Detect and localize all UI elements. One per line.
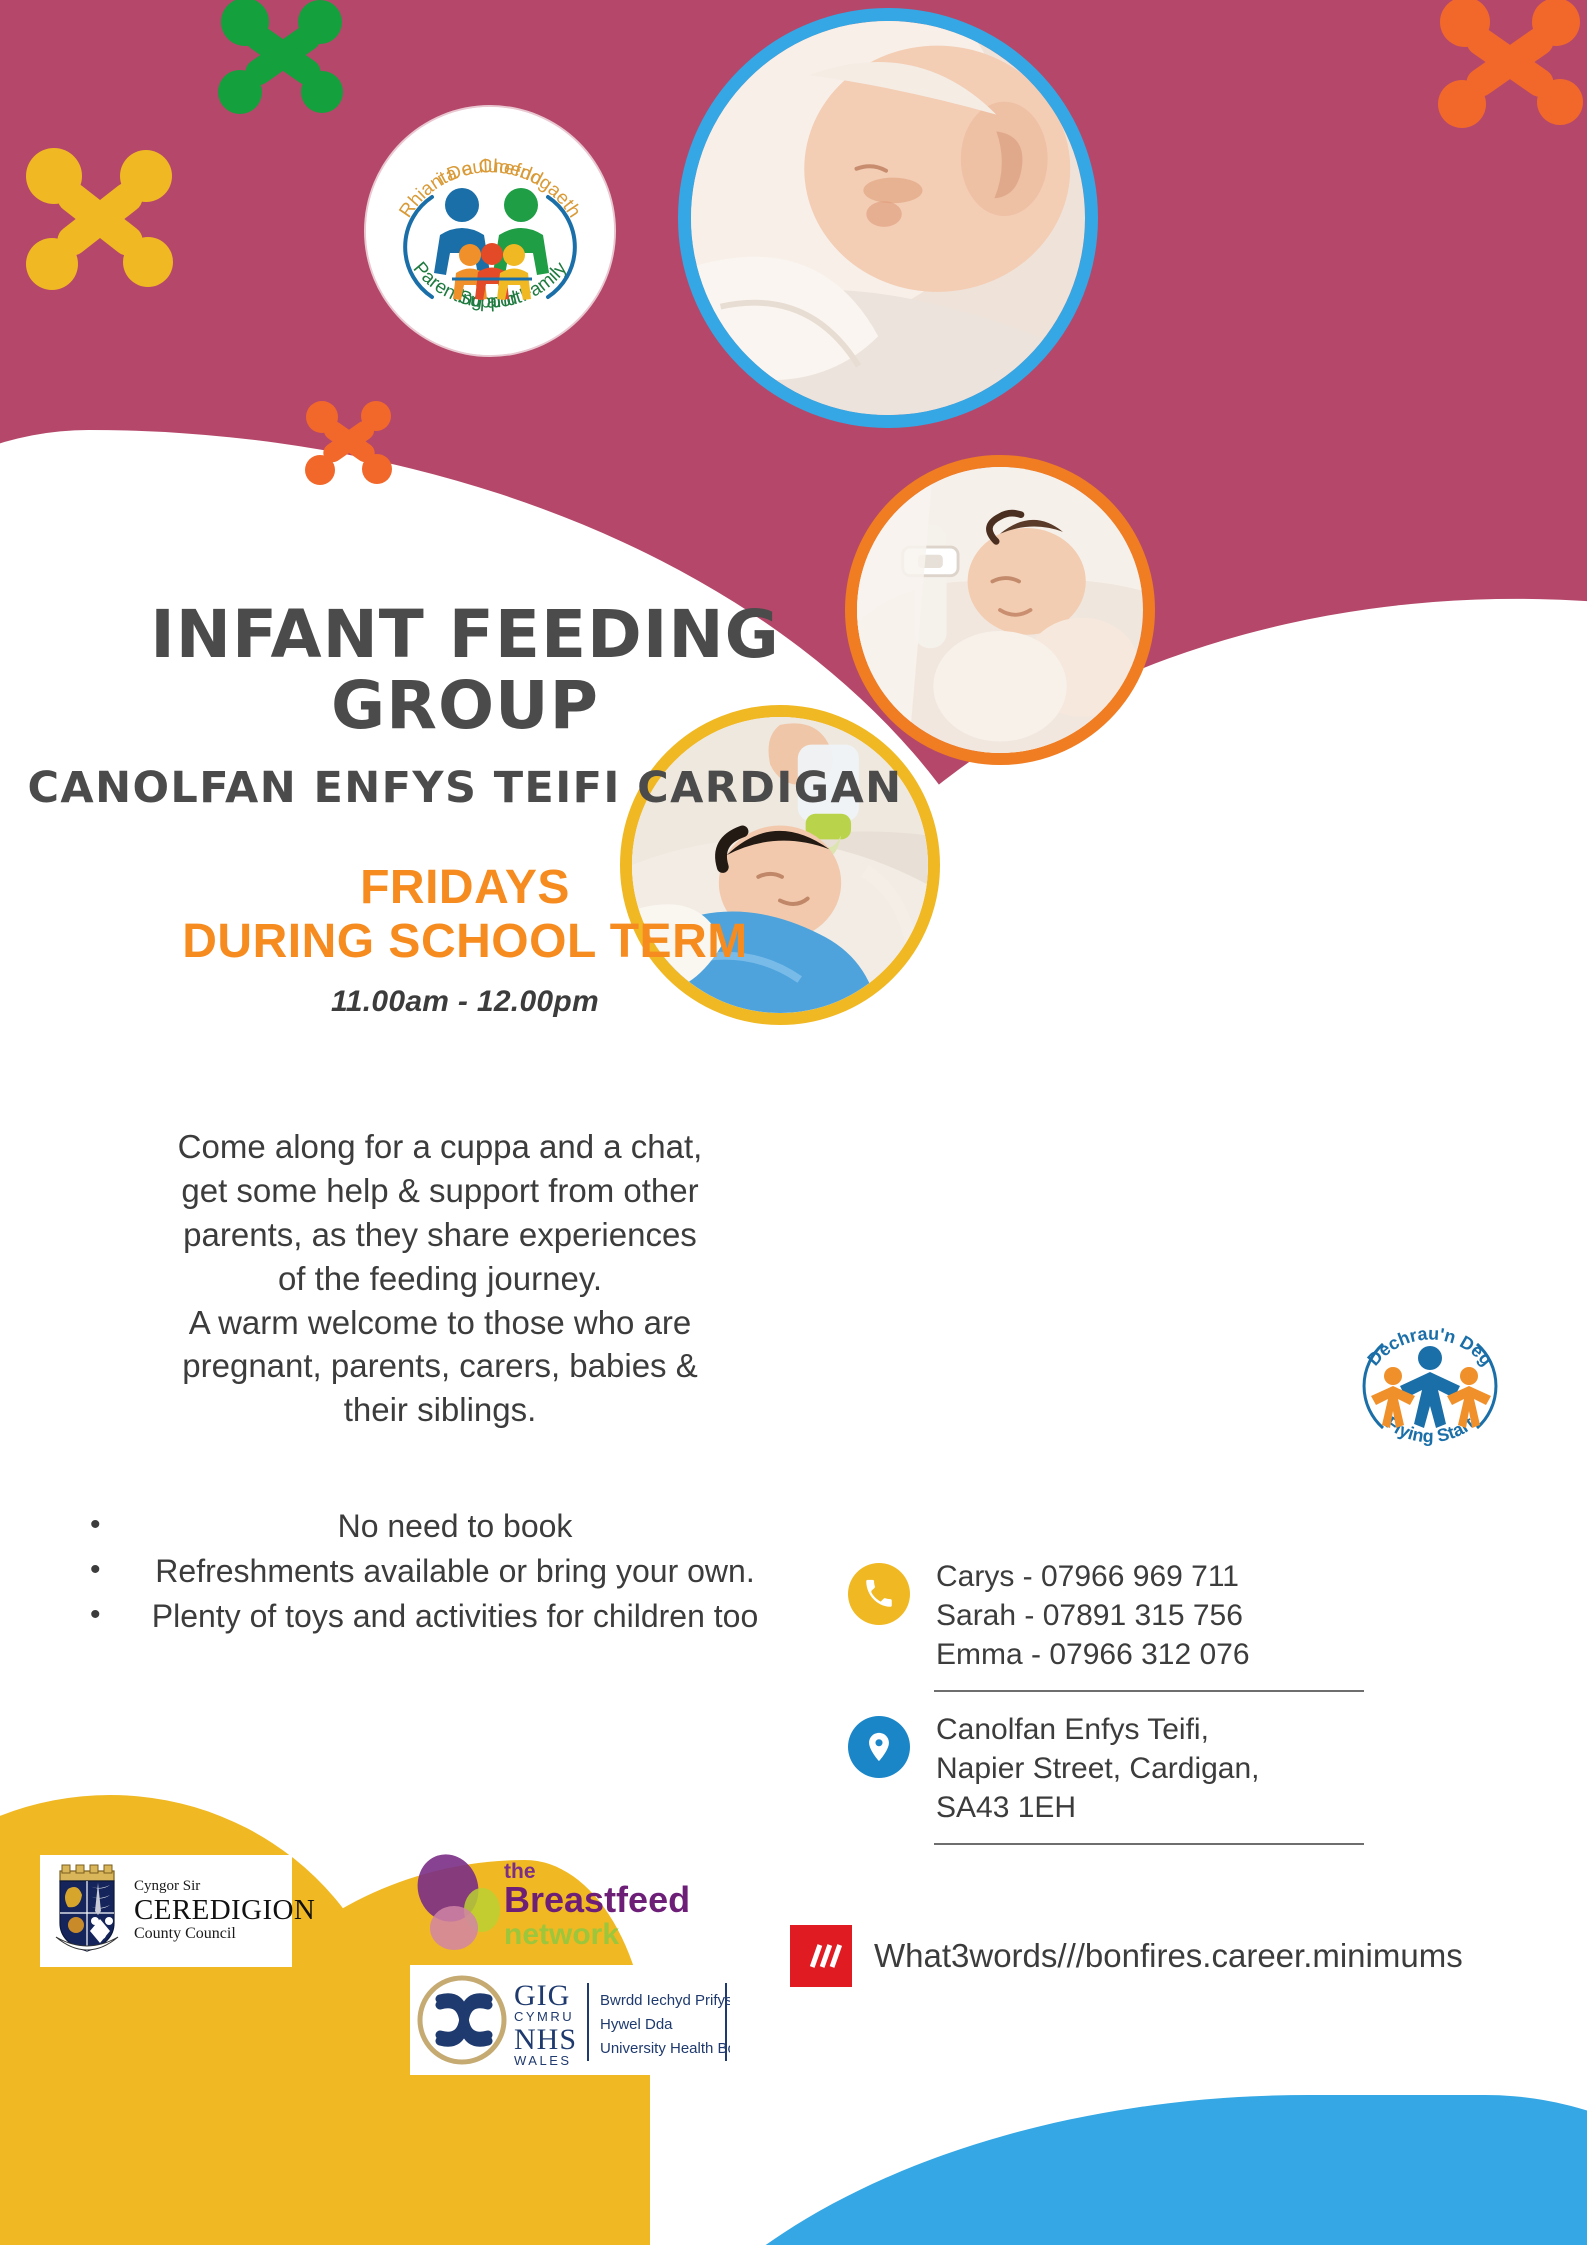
photo-1-artwork — [691, 21, 1085, 415]
description-line: Come along for a cuppa and a chat, — [60, 1125, 820, 1169]
svg-text:WALES: WALES — [514, 2053, 572, 2068]
list-item: Plenty of toys and activities for childr… — [70, 1595, 830, 1638]
phone-icon — [848, 1563, 910, 1625]
address-contact-row: Canolfan Enfys Teifi, Napier Street, Car… — [848, 1708, 1548, 1827]
green-jack-shape — [210, 0, 350, 120]
page-title: INFANT FEEDING GROUP — [0, 600, 930, 741]
list-item: No need to book — [70, 1505, 830, 1548]
address-line: Canolfan Enfys Teifi, — [936, 1710, 1260, 1749]
schedule-line-1: FRIDAYS — [0, 861, 930, 915]
description-line: get some help & support from other — [60, 1169, 820, 1213]
ceredigion-crest-icon — [50, 1863, 124, 1959]
schedule-line-2: DURING SCHOOL TERM — [0, 915, 930, 969]
ceredigion-line-3: County Council — [134, 1926, 315, 1943]
what3words-row: What3words///bonfires.career.minimums — [790, 1925, 1463, 1987]
ceredigion-line-1: Cyngor Sir — [134, 1879, 315, 1895]
nhs-board-line-3: University Health Board — [600, 2040, 730, 2057]
flying-start-logo: Dechrau'n Deg Flying Start — [1345, 1300, 1515, 1470]
breastfeeding-network-logo-artwork: the Breastfeeding network — [400, 1848, 690, 1956]
ceredigion-logo-text: Cyngor Sir CEREDIGION County Council — [134, 1879, 315, 1943]
address-line: SA43 1EH — [936, 1788, 1260, 1827]
nhs-board-line-1: Bwrdd Iechyd Prifysgol — [600, 1992, 730, 2009]
venue-subtitle: CANOLFAN ENFYS TEIFI CARDIGAN — [0, 763, 930, 813]
bfn-line-3: network — [504, 1918, 619, 1951]
nhs-logo-artwork: GIG CYMRU NHS WALES Bwrdd Iechyd Prifysg… — [410, 1965, 730, 2075]
bfn-line-2: Breastfeeding — [504, 1879, 690, 1920]
info-bullet-list: No need to book Refreshments available o… — [70, 1505, 830, 1640]
nhs-board-line-2: Hywel Dda — [600, 2016, 673, 2033]
ceredigion-line-2: CEREDIGION — [134, 1895, 315, 1926]
title-line-1: INFANT FEEDING — [0, 600, 930, 671]
headline-block: INFANT FEEDING GROUP CANOLFAN ENFYS TEIF… — [0, 600, 930, 1019]
contact-divider-bottom — [934, 1843, 1364, 1845]
orange-jack-shape-top-right — [1420, 0, 1587, 130]
description-text: Come along for a cuppa and a chat, get s… — [60, 1125, 820, 1432]
nhs-wales-hywel-dda-logo: GIG CYMRU NHS WALES Bwrdd Iechyd Prifysg… — [410, 1965, 730, 2075]
description-line: parents, as they share experiences — [60, 1213, 820, 1257]
what3words-slashes-icon — [790, 1925, 852, 1987]
title-line-2: GROUP — [0, 671, 930, 742]
phone-line: Sarah - 07891 315 756 — [936, 1596, 1250, 1635]
svg-text:NHS: NHS — [514, 2023, 577, 2056]
phone-numbers: Carys - 07966 969 711 Sarah - 07891 315 … — [936, 1555, 1250, 1674]
yellow-jack-shape-left — [20, 140, 180, 300]
ceredigion-county-council-logo: Cyngor Sir CEREDIGION County Council — [40, 1855, 292, 1967]
flying-start-logo-artwork: Dechrau'n Deg Flying Start — [1345, 1300, 1515, 1470]
svg-text:GIG: GIG — [514, 1979, 570, 2012]
contact-divider-top — [934, 1690, 1364, 1692]
description-line: A warm welcome to those who are — [60, 1301, 820, 1345]
contact-block: Carys - 07966 969 711 Sarah - 07891 315 … — [848, 1555, 1548, 1861]
photo-breastfeeding-newborn — [678, 8, 1098, 428]
list-item: Refreshments available or bring your own… — [70, 1550, 830, 1593]
parenting-and-family-support-logo: Rhianta a Chefnogaeth i Deuluoedd Parent… — [366, 107, 614, 355]
phone-contact-row: Carys - 07966 969 711 Sarah - 07891 315 … — [848, 1555, 1548, 1674]
session-time: 11.00am - 12.00pm — [0, 985, 930, 1019]
description-line: pregnant, parents, carers, babies & — [60, 1344, 820, 1388]
phone-line: Emma - 07966 312 076 — [936, 1635, 1250, 1674]
phone-line: Carys - 07966 969 711 — [936, 1557, 1250, 1596]
pfs-logo-artwork: Rhianta a Chefnogaeth i Deuluoedd Parent… — [366, 107, 614, 355]
address-text: Canolfan Enfys Teifi, Napier Street, Car… — [936, 1708, 1260, 1827]
description-line: their siblings. — [60, 1388, 820, 1432]
svg-text:CYMRU: CYMRU — [514, 2009, 574, 2024]
schedule-heading: FRIDAYS DURING SCHOOL TERM — [0, 861, 930, 969]
breastfeeding-network-logo: the Breastfeeding network — [400, 1848, 690, 1956]
what3words-address: What3words///bonfires.career.minimums — [874, 1937, 1463, 1975]
map-pin-icon — [848, 1716, 910, 1778]
blue-background-shape — [600, 2095, 1587, 2245]
address-line: Napier Street, Cardigan, — [936, 1749, 1260, 1788]
description-line: of the feeding journey. — [60, 1257, 820, 1301]
orange-jack-shape-small — [298, 400, 398, 490]
